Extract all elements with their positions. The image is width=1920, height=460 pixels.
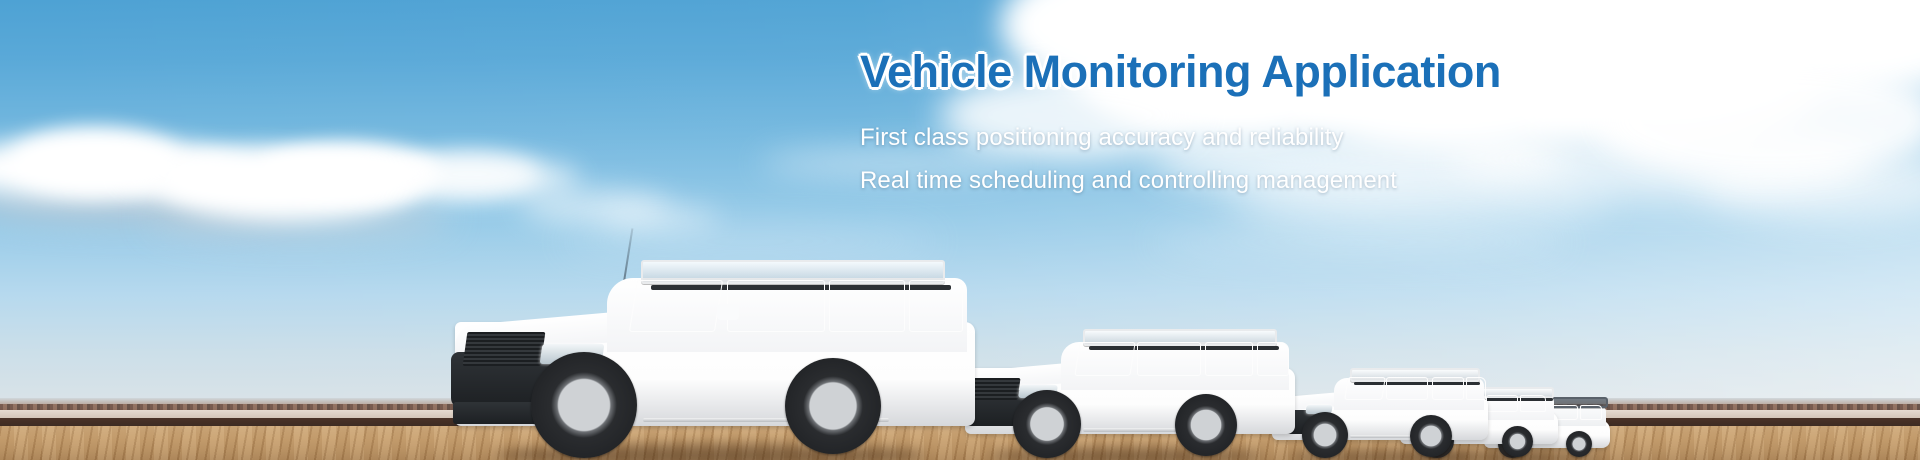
suv-lead — [455, 216, 975, 460]
rear-wheel — [1410, 415, 1452, 457]
side-mirror — [717, 304, 739, 320]
window-pane — [1486, 395, 1518, 412]
rear-wheel — [1566, 431, 1592, 457]
window-pane — [1580, 405, 1602, 420]
front-wheel — [1302, 412, 1348, 458]
window-pane — [629, 280, 723, 332]
window-pane — [1137, 342, 1201, 376]
window-pane — [1074, 342, 1135, 376]
suv-third — [1272, 312, 1488, 460]
banner-subtitle-2: Real time scheduling and controlling man… — [860, 165, 1760, 197]
front-wheel — [1013, 390, 1081, 458]
window-pane — [1344, 377, 1386, 400]
banner-subtitle-1: First class positioning accuracy and rel… — [860, 122, 1760, 154]
window-pane — [1205, 342, 1253, 376]
front-wheel — [531, 352, 637, 458]
rear-wheel — [1175, 394, 1237, 456]
window-pane — [727, 280, 825, 332]
rear-wheel — [1502, 426, 1533, 457]
rear-wheel — [785, 358, 881, 454]
banner-headline: Vehicle Monitoring Application — [860, 44, 1760, 100]
window-pane — [1466, 377, 1486, 400]
window-pane — [829, 280, 905, 332]
window-pane — [1386, 377, 1428, 400]
vehicle-monitoring-banner: Vehicle Monitoring Application First cla… — [0, 0, 1920, 460]
window-pane — [1257, 342, 1289, 376]
banner-subtitle-list: First class positioning accuracy and rel… — [860, 122, 1760, 197]
suv-second — [965, 276, 1295, 460]
window-pane — [1520, 395, 1546, 412]
window-pane — [1432, 377, 1464, 400]
banner-copy: Vehicle Monitoring Application First cla… — [860, 44, 1760, 208]
front-grille — [969, 378, 1020, 400]
window-pane — [909, 280, 963, 332]
front-grille — [463, 332, 546, 366]
